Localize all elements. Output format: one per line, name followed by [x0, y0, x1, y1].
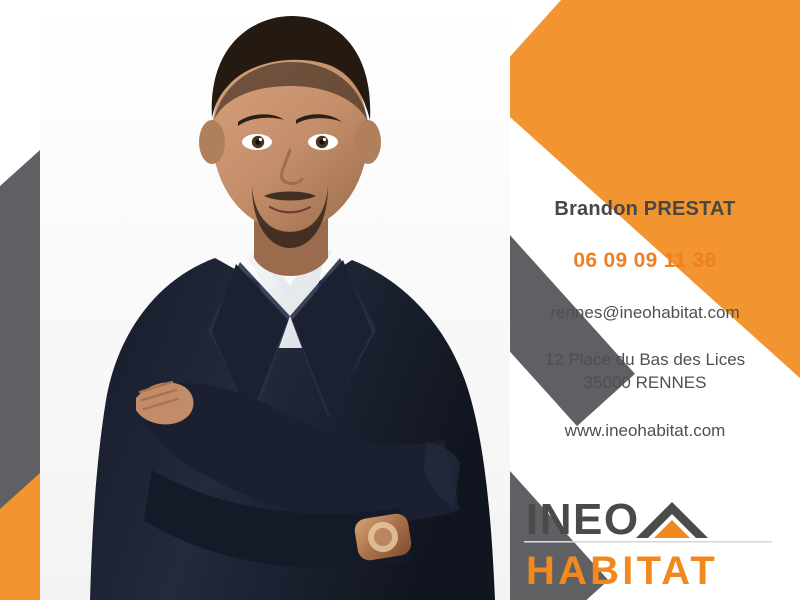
- portrait-illustration: [40, 0, 510, 600]
- business-card: Brandon PRESTAT 06 09 09 11 38 rennes@in…: [0, 0, 800, 600]
- ineo-habitat-logo[interactable]: INEO HABITAT: [524, 492, 772, 592]
- logo-divider: [524, 541, 772, 543]
- contact-address-line2: 35000 RENNES: [500, 372, 790, 395]
- roof-house-icon: [636, 502, 708, 538]
- contact-details: Brandon PRESTAT 06 09 09 11 38 rennes@in…: [500, 198, 790, 441]
- contact-address-line1: 12 Place du Bas des Lices: [500, 349, 790, 372]
- contact-address: 12 Place du Bas des Lices 35000 RENNES: [500, 349, 790, 395]
- contact-email[interactable]: rennes@ineohabitat.com: [500, 303, 790, 323]
- contact-phone[interactable]: 06 09 09 11 38: [500, 249, 790, 273]
- logo-word-ineo: INEO: [526, 495, 640, 544]
- contact-website[interactable]: www.ineohabitat.com: [500, 421, 790, 441]
- portrait-photo: [40, 0, 510, 600]
- contact-name: Brandon PRESTAT: [500, 198, 790, 221]
- logo-word-habitat: HABITAT: [526, 549, 718, 592]
